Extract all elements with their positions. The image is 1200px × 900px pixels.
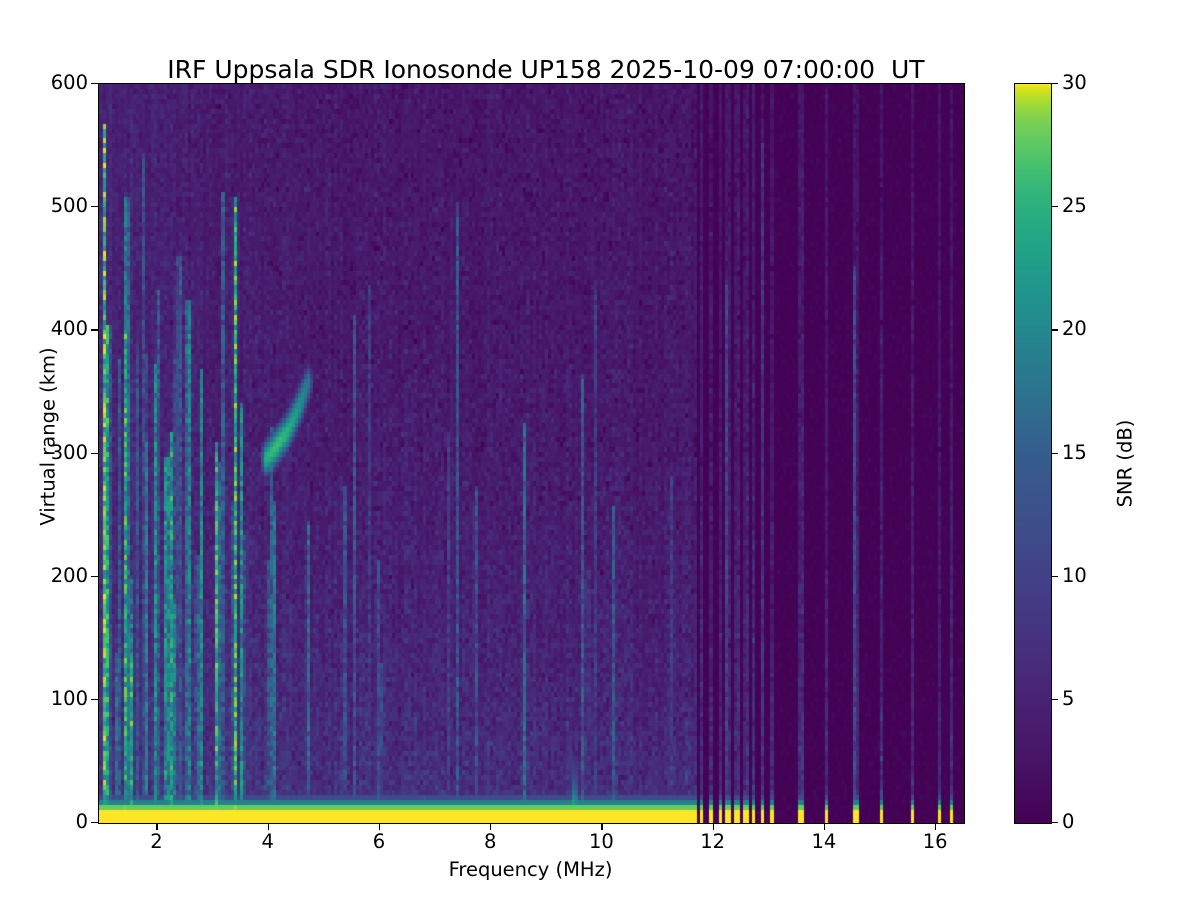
colorbar-tick-label: 25: [1062, 196, 1152, 216]
y-tick-label: 0: [0, 812, 88, 832]
colorbar-tick-label: 5: [1062, 689, 1152, 709]
ionogram-heatmap: [99, 84, 964, 823]
colorbar-tick-mark: [1051, 576, 1058, 577]
colorbar-tick-mark: [1051, 206, 1058, 207]
y-tick-mark: [91, 83, 98, 84]
x-tick-mark: [268, 823, 269, 830]
x-tick-label: 2: [96, 832, 216, 852]
x-tick-mark: [156, 823, 157, 830]
x-tick-mark: [824, 823, 825, 830]
y-tick-mark: [91, 453, 98, 454]
y-tick-mark: [91, 329, 98, 330]
y-axis-label: Virtual range (km): [37, 67, 60, 807]
x-tick-label: 4: [208, 832, 328, 852]
y-tick-mark: [91, 206, 98, 207]
y-tick-mark: [91, 699, 98, 700]
colorbar-tick-mark: [1051, 699, 1058, 700]
y-tick-mark: [91, 576, 98, 577]
y-tick-mark: [91, 822, 98, 823]
colorbar-tick-mark: [1051, 453, 1058, 454]
x-tick-mark: [935, 823, 936, 830]
ionogram-plot-area: [98, 83, 965, 824]
x-tick-label: 12: [653, 832, 773, 852]
colorbar-tick-label: 15: [1062, 443, 1152, 463]
x-tick-label: 14: [764, 832, 884, 852]
x-tick-mark: [490, 823, 491, 830]
x-tick-label: 8: [430, 832, 550, 852]
x-tick-label: 6: [319, 832, 439, 852]
ionogram-figure: IRF Uppsala SDR Ionosonde UP158 2025-10-…: [0, 0, 1200, 900]
colorbar-tick-label: 30: [1062, 73, 1152, 93]
colorbar-tick-mark: [1051, 822, 1058, 823]
title-line-1: IRF Uppsala SDR Ionosonde UP158 2025-10-…: [167, 55, 924, 84]
colorbar-tick-label: 10: [1062, 566, 1152, 586]
colorbar: [1014, 83, 1052, 824]
x-tick-mark: [379, 823, 380, 830]
colorbar-tick-label: 20: [1062, 319, 1152, 339]
x-tick-label: 16: [875, 832, 995, 852]
x-tick-label: 10: [541, 832, 661, 852]
x-axis-label: Frequency (MHz): [98, 858, 963, 881]
colorbar-tick-mark: [1051, 329, 1058, 330]
x-tick-mark: [601, 823, 602, 830]
colorbar-tick-mark: [1051, 83, 1058, 84]
colorbar-tick-label: 0: [1062, 812, 1152, 832]
x-tick-mark: [713, 823, 714, 830]
colorbar-label: SNR (dB): [1114, 274, 1137, 654]
